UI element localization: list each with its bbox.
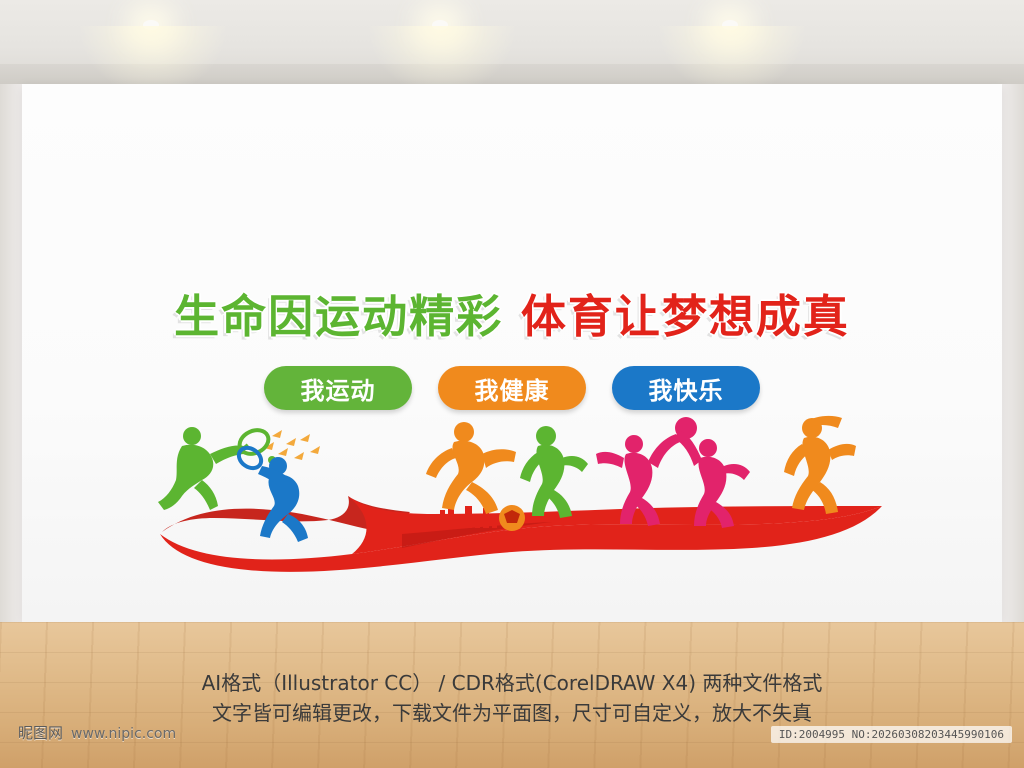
slogan-pill-sport[interactable]: 我运动	[264, 366, 412, 410]
asset-id-badge: ID:2004995 NO:20260308203445990106	[771, 726, 1012, 743]
runner-silhouette	[784, 416, 856, 514]
sports-silhouette-artwork	[152, 414, 892, 584]
watermark: 昵图网 www.nipic.com	[18, 722, 176, 743]
watermark-brand: 昵图网	[18, 722, 63, 743]
soccer-defender-silhouette	[520, 426, 588, 518]
spot-light-icon	[722, 20, 738, 30]
headline-green-text: 生命因运动精彩	[174, 290, 503, 343]
headline-red-text: 体育让梦想成真	[521, 290, 850, 343]
slogan-pill-happy[interactable]: 我快乐	[612, 366, 760, 410]
spot-light-icon	[143, 20, 159, 30]
slogan-pill-group: 我运动 我健康 我快乐	[22, 366, 1002, 410]
format-note: AI格式（Illustrator CC） / CDR格式(CorelDRAW X…	[0, 668, 1024, 728]
wall-panel: 生命因运动精彩 体育让梦想成真 我运动 我健康 我快乐	[22, 84, 1002, 622]
slogan-pill-health[interactable]: 我健康	[438, 366, 586, 410]
format-note-line-1: AI格式（Illustrator CC） / CDR格式(CorelDRAW X…	[0, 668, 1024, 698]
poster-mockup-scene: 生命因运动精彩 体育让梦想成真 我运动 我健康 我快乐	[0, 0, 1024, 768]
watermark-site: www.nipic.com	[71, 726, 176, 742]
wall-right-edge	[1002, 84, 1024, 622]
wall-left-edge	[0, 84, 22, 622]
shuttlecock-trail-icon	[264, 430, 320, 460]
poster-headline: 生命因运动精彩 体育让梦想成真	[22, 280, 1002, 345]
ceiling	[0, 0, 1024, 84]
spot-light-icon	[432, 20, 448, 30]
soccer-player-silhouette	[426, 422, 516, 514]
ceiling-light-rail	[0, 64, 1024, 84]
